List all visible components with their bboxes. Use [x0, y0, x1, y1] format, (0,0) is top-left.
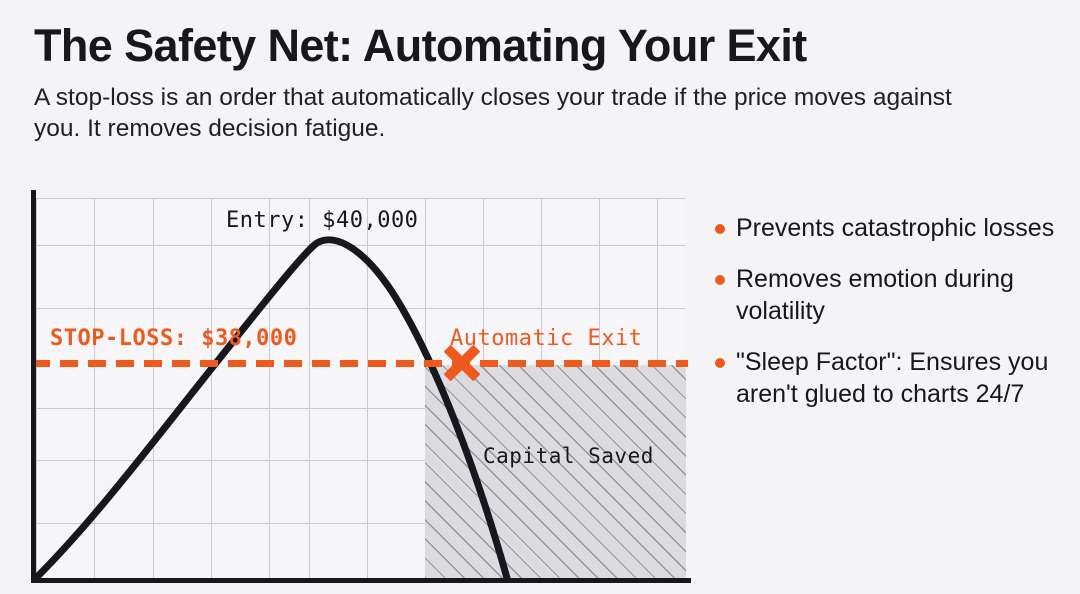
list-item-label: Prevents catastrophic losses [736, 212, 1054, 245]
list-item-label: Removes emotion during volatility [736, 263, 1060, 328]
y-axis [31, 190, 36, 578]
entry-label: Entry: $40,000 [226, 208, 418, 233]
capital-saved-label: Capital Saved [483, 444, 654, 468]
list-item: "Sleep Factor": Ensures you aren't glued… [715, 346, 1060, 411]
list-item: Removes emotion during volatility [715, 263, 1060, 328]
x-axis [31, 578, 691, 583]
slide-root: The Safety Net: Automating Your Exit A s… [0, 0, 1080, 594]
stop-loss-chart: Entry: $40,000 STOP-LOSS: $38,000 Automa… [36, 198, 686, 578]
automatic-exit-label: Automatic Exit [450, 326, 642, 351]
price-curve [36, 188, 696, 583]
bullet-dot-icon [715, 358, 725, 368]
benefits-list: Prevents catastrophic losses Removes emo… [715, 212, 1060, 429]
page-subtitle: A stop-loss is an order that automatical… [34, 82, 964, 145]
stop-loss-line [32, 360, 688, 367]
bullet-dot-icon [715, 224, 725, 234]
list-item-label: "Sleep Factor": Ensures you aren't glued… [736, 346, 1060, 411]
stop-loss-label: STOP-LOSS: $38,000 [50, 326, 297, 351]
header: The Safety Net: Automating Your Exit A s… [34, 22, 1034, 144]
bullet-dot-icon [715, 275, 725, 285]
page-title: The Safety Net: Automating Your Exit [34, 22, 1034, 70]
list-item: Prevents catastrophic losses [715, 212, 1060, 245]
